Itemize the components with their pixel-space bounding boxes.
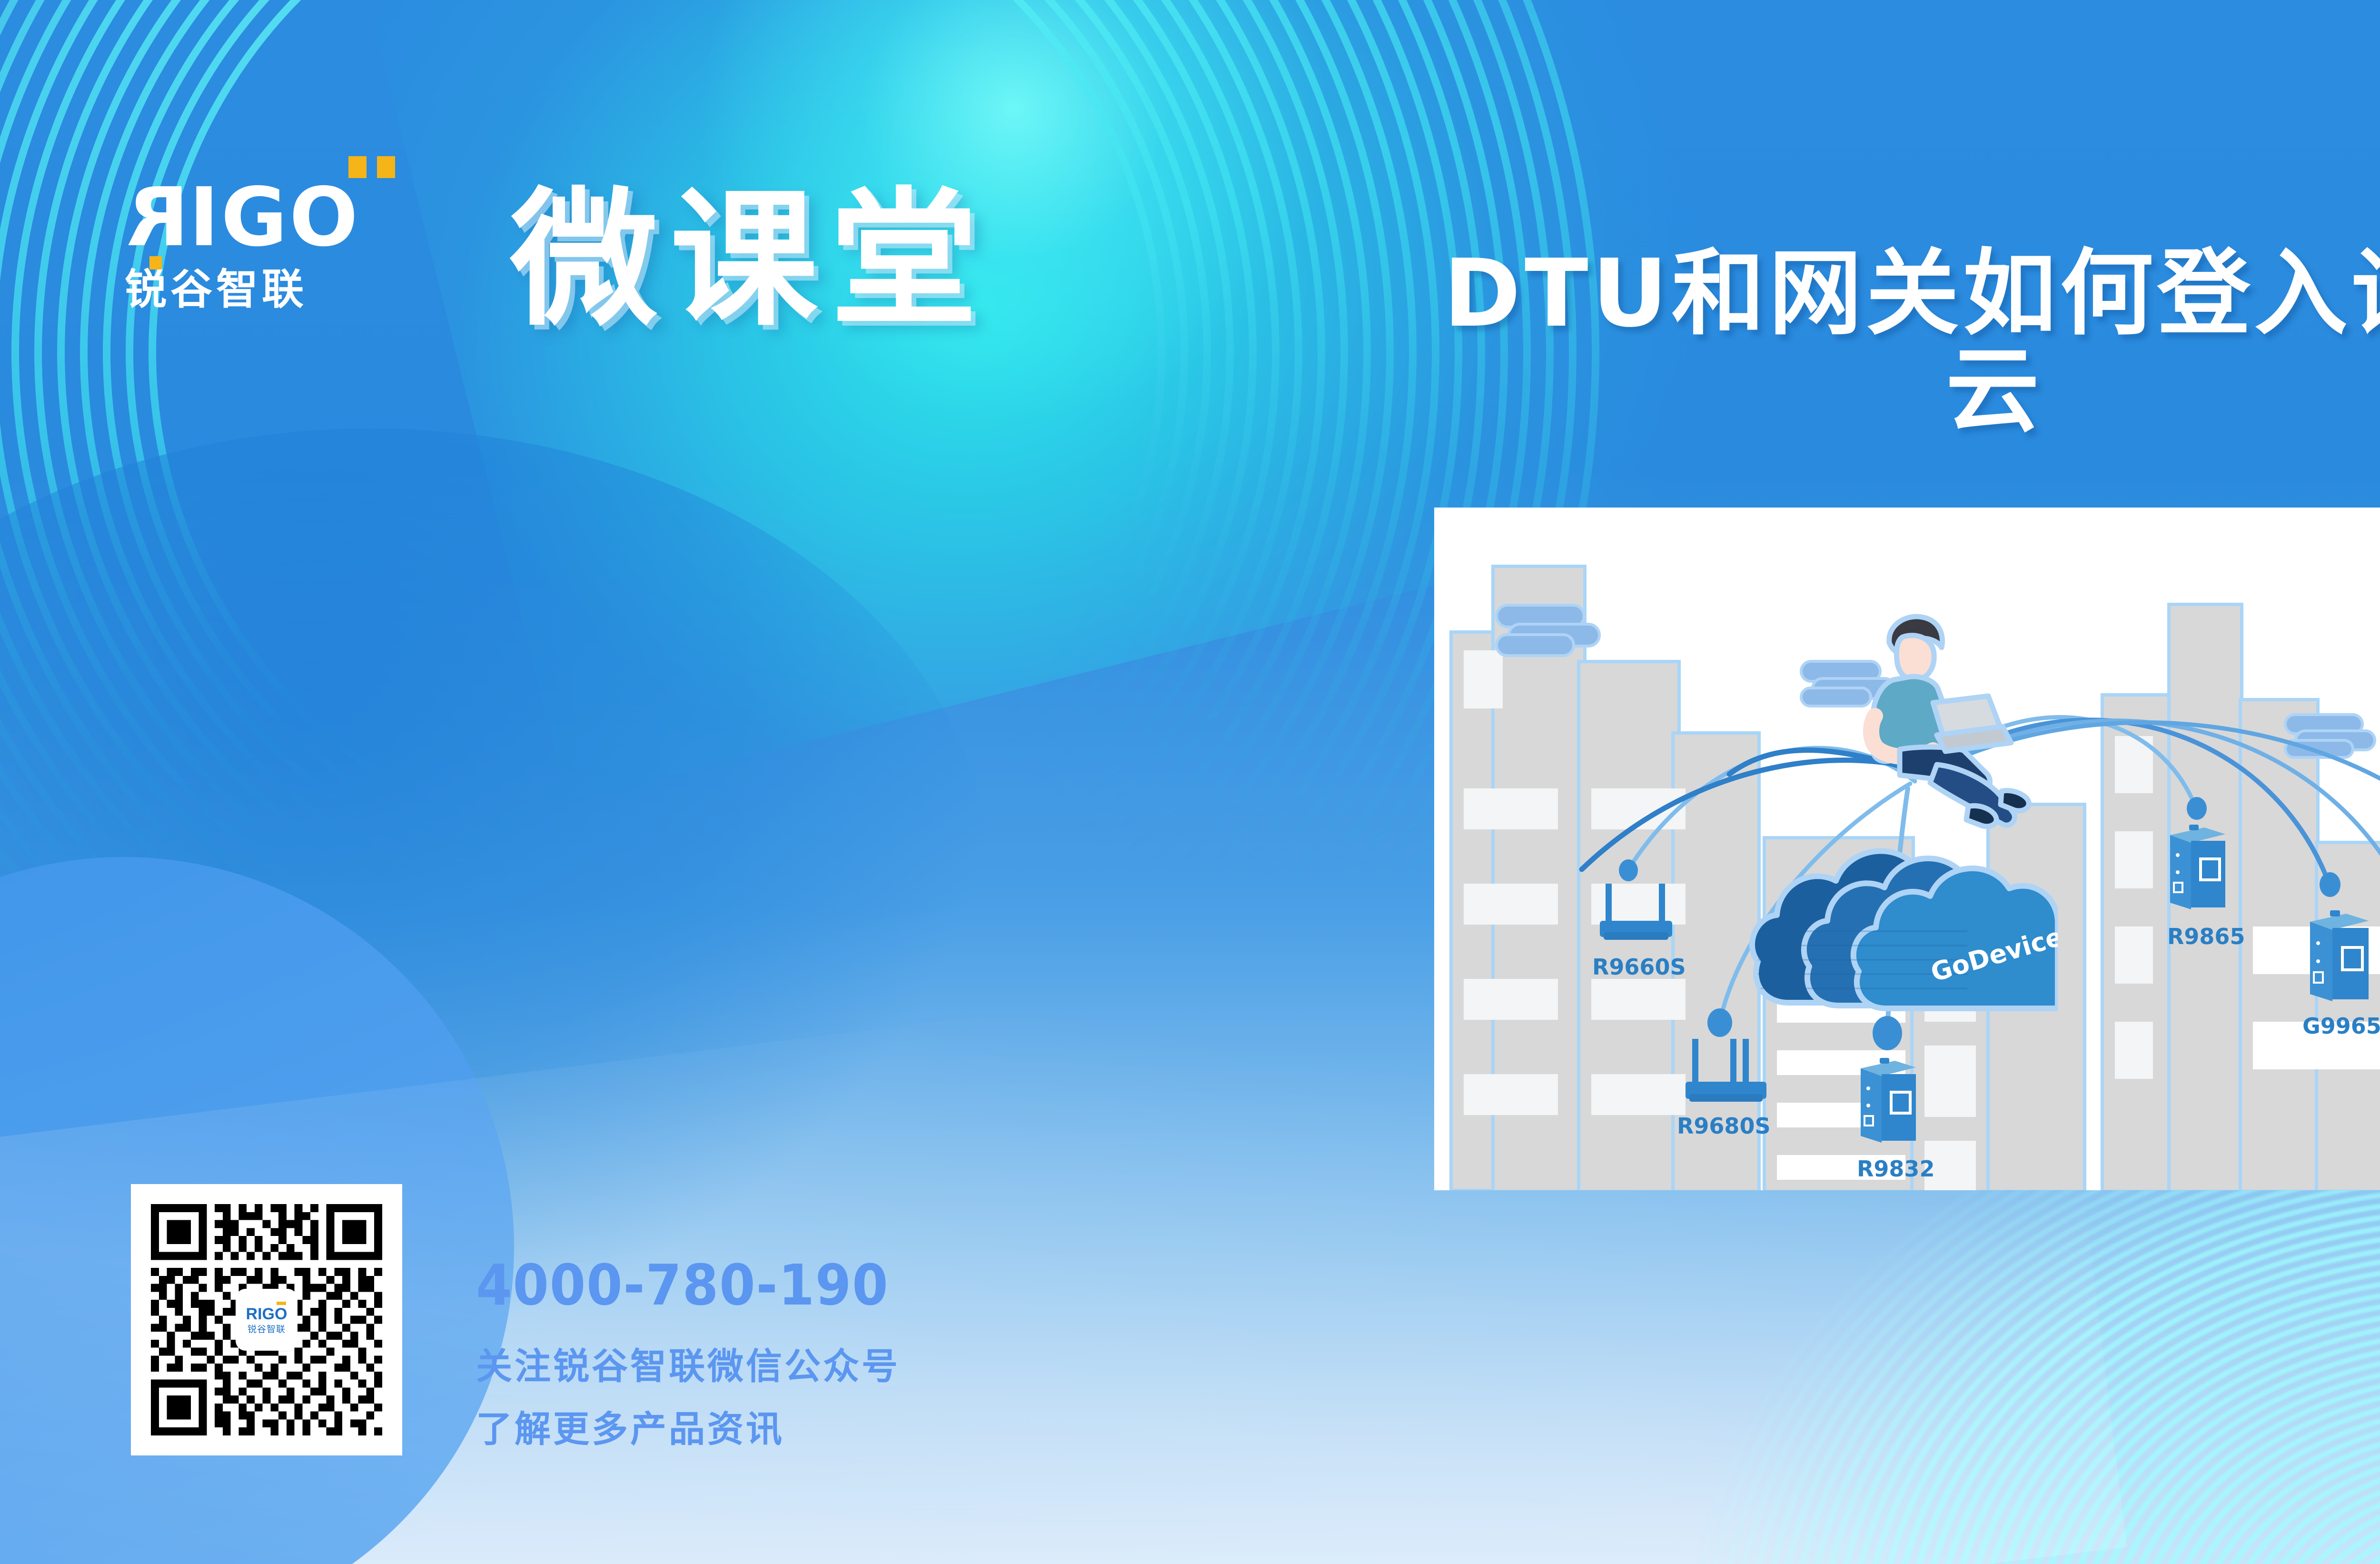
device-label-r9660s: R9660S <box>1592 954 1686 980</box>
device-label-r9832: R9832 <box>1857 1156 1934 1182</box>
device-r9660s <box>1592 874 1683 946</box>
poster-canvas: RIGO 锐谷智联 微课堂 DTU和网关如何登入设备云 （一） <box>0 0 2380 1564</box>
illustration-card: R9660S R9680S <box>1434 508 2380 1190</box>
contact-line-1: 关注锐谷智联微信公众号 <box>476 1348 900 1385</box>
device-label-g9965: G9965 <box>2302 1013 2380 1039</box>
wechat-qr-code[interactable]: RIGO 锐谷智联 <box>131 1184 402 1455</box>
logo-letters-igo: IGO <box>189 170 360 265</box>
logo-wordmark: RIGO <box>125 177 467 258</box>
device-r9832 <box>1852 1055 1924 1150</box>
brand-logo: RIGO 锐谷智联 <box>125 177 467 310</box>
device-r9680s <box>1680 1031 1775 1107</box>
network-topology-illustration: R9660S R9680S <box>1434 508 2380 1190</box>
device-r9865 <box>2162 822 2233 917</box>
qr-center-logo: RIGO 锐谷智联 <box>238 1291 295 1348</box>
device-g9965 <box>2301 907 2377 1010</box>
logo-cn-text: 锐谷智联 <box>125 265 307 314</box>
contact-line-2: 了解更多产品资讯 <box>476 1411 784 1447</box>
logo-cn-accent-dot <box>149 256 162 269</box>
person-with-laptop <box>1844 608 2063 836</box>
phone-number: 4000-780-190 <box>476 1257 889 1313</box>
device-label-r9865: R9865 <box>2167 924 2245 949</box>
logo-letter-r-mirrored: R <box>125 177 189 258</box>
page-subtitle: （一） <box>1418 362 2380 415</box>
logo-umlaut-dots <box>348 156 395 178</box>
series-title: 微课堂 <box>510 187 990 334</box>
qr-logo-latin: RIGO <box>246 1306 288 1322</box>
logo-chinese-name: 锐谷智联 <box>125 269 467 310</box>
device-label-r9680s: R9680S <box>1677 1113 1771 1139</box>
qr-logo-cn: 锐谷智联 <box>248 1325 286 1334</box>
